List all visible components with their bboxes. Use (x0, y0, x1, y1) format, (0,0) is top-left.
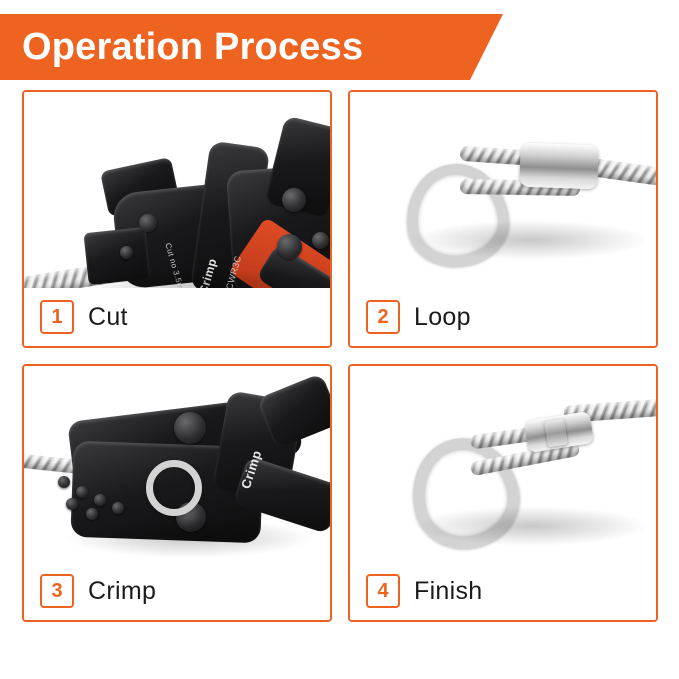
step-panel-cut: Cut no 3.5mm Crimp CWR3C 1 Cut (22, 90, 332, 348)
step-caption-cut: 1 Cut (24, 288, 330, 346)
ferrule-crimp-waist (544, 419, 568, 448)
step-number-badge-4: 4 (366, 574, 400, 608)
step-panel-loop: 2 Loop (348, 90, 658, 348)
die-pocket-3 (94, 494, 106, 506)
page-title: Operation Process (22, 26, 363, 69)
finish-shadow (414, 506, 649, 546)
steps-grid: Cut no 3.5mm Crimp CWR3C 1 Cut 2 Loop (22, 90, 658, 646)
die-pocket-4 (66, 498, 78, 510)
tool-rivet-middle (282, 188, 306, 212)
step-image-loop (350, 92, 656, 288)
tool-rivet-lower (277, 234, 302, 259)
die-pocket-2 (76, 486, 88, 498)
tool-rivet-side (312, 232, 329, 249)
step-caption-loop: 2 Loop (350, 288, 656, 346)
step-panel-crimp: Crimp 3 Crimp (22, 364, 332, 622)
page-header-banner: Operation Process (0, 14, 470, 80)
step-number-badge-1: 1 (40, 300, 74, 334)
step-label-4: Finish (414, 577, 483, 606)
die-pocket-5 (86, 508, 98, 520)
ferrule-sleeve (519, 143, 598, 190)
tool-cutter-pin (120, 246, 133, 259)
step-image-cut: Cut no 3.5mm Crimp CWR3C (24, 92, 330, 288)
cable-loop-in-jaw (146, 460, 202, 516)
step-number-badge-3: 3 (40, 574, 74, 608)
step-number-badge-2: 2 (366, 300, 400, 334)
step-image-finish (350, 366, 656, 562)
step-caption-finish: 4 Finish (350, 562, 656, 620)
step-image-crimp: Crimp (24, 366, 330, 562)
die-pocket-1 (58, 476, 70, 488)
tool-shadow-3 (64, 518, 314, 558)
step-label-2: Loop (414, 303, 471, 332)
loop-shadow (410, 220, 650, 260)
step-label-1: Cut (88, 303, 128, 332)
step-caption-crimp: 3 Crimp (24, 562, 330, 620)
tool-rivet-top (174, 412, 206, 444)
die-pocket-6 (112, 502, 124, 514)
tool-pivot-pin (139, 214, 157, 232)
step-label-3: Crimp (88, 577, 156, 606)
step-panel-finish: 4 Finish (348, 364, 658, 622)
